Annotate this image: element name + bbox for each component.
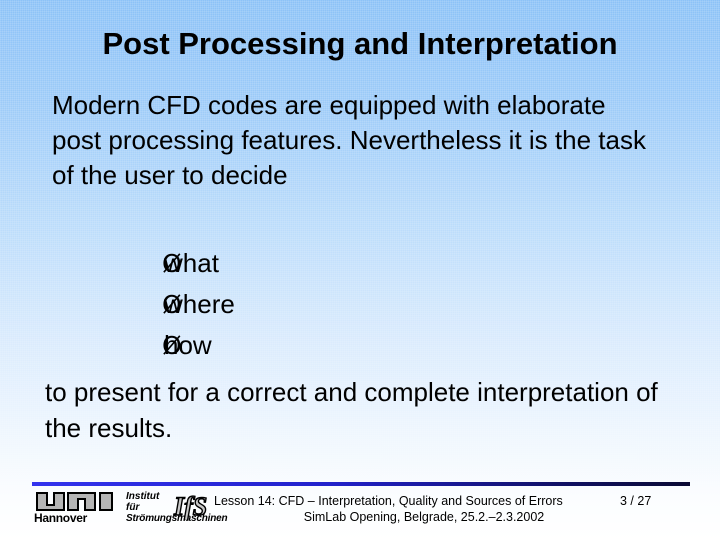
list-item: Ø where (52, 284, 612, 325)
bullet-list: Ø what Ø where Ø how (52, 243, 612, 366)
page-number: 3 / 27 (620, 493, 690, 509)
list-item-label: where (164, 284, 235, 325)
slide-canvas: Post Processing and Interpretation Moder… (0, 0, 720, 540)
closing-paragraph: to present for a correct and complete in… (45, 374, 665, 446)
arrow-bullet-icon: Ø (52, 325, 164, 366)
list-item-label: how (164, 325, 212, 366)
slide-title: Post Processing and Interpretation (0, 26, 720, 62)
uni-blocks-icon (34, 492, 120, 511)
list-item-label: what (164, 243, 219, 284)
intro-paragraph: Modern CFD codes are equipped with elabo… (52, 88, 652, 193)
uni-logo-city: Hannover (34, 511, 120, 526)
footer-lesson-line: Lesson 14: CFD – Interpretation, Quality… (214, 493, 634, 509)
arrow-bullet-icon: Ø (52, 243, 164, 284)
svg-text:IfS: IfS (173, 492, 207, 520)
list-item: Ø what (52, 243, 612, 284)
arrow-bullet-icon: Ø (52, 284, 164, 325)
footer-event-line: SimLab Opening, Belgrade, 25.2.–2.3.2002 (214, 509, 634, 525)
uni-hannover-logo: Hannover (34, 492, 120, 528)
footer-divider-rule (32, 482, 690, 486)
list-item: Ø how (52, 325, 612, 366)
slide-footer: Hannover Institut für Strömungsmaschinen… (32, 490, 694, 532)
footer-text-block: Lesson 14: CFD – Interpretation, Quality… (214, 493, 634, 525)
